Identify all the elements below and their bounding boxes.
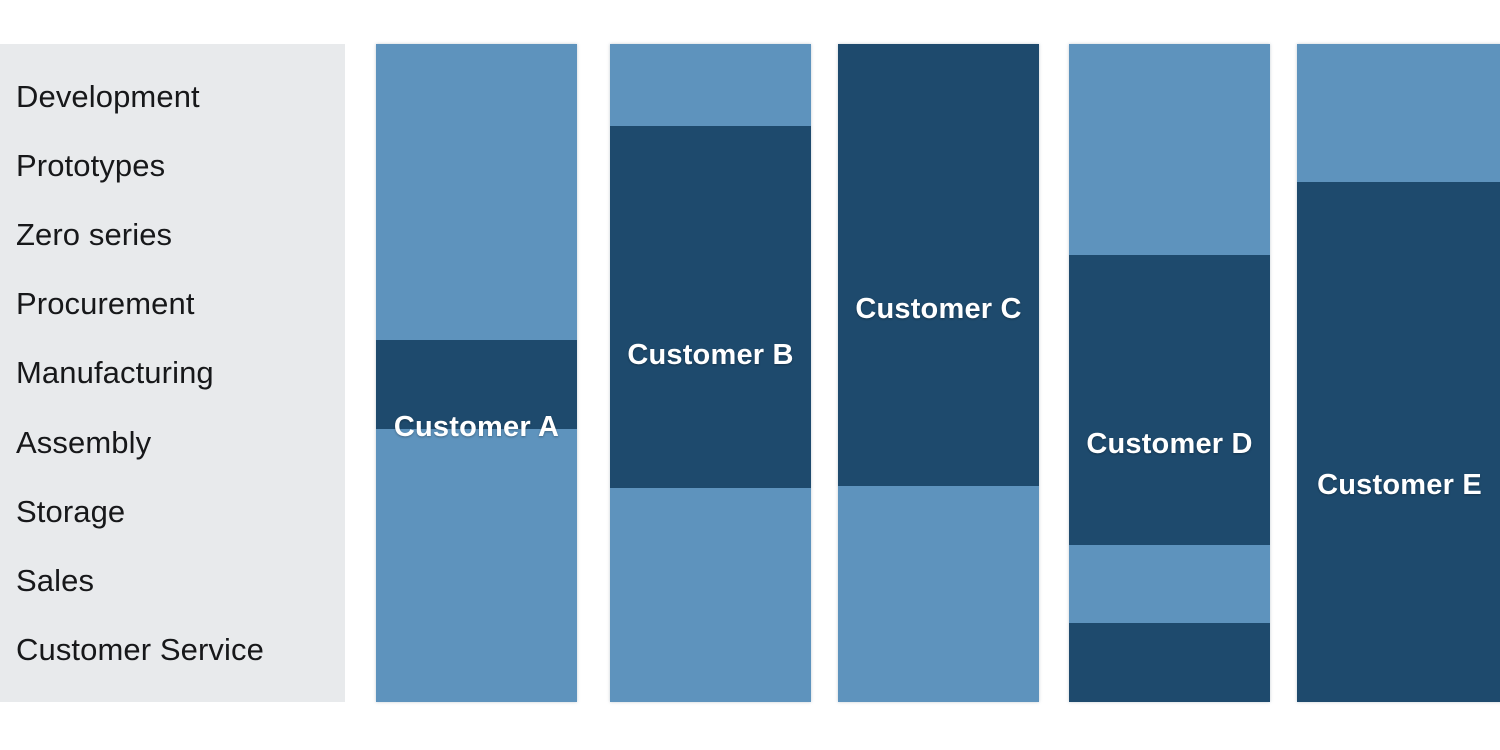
column-segment-base[interactable] (376, 44, 577, 340)
legend-item-label: Procurement (16, 288, 195, 319)
column-customer-b[interactable]: Customer B (610, 44, 811, 702)
column-segment-base[interactable] (610, 44, 811, 126)
column-segment-base[interactable] (1069, 545, 1270, 623)
column-segment-highlight[interactable] (1069, 255, 1270, 545)
legend-item-prototypes[interactable]: Prototypes (0, 131, 345, 200)
legend-item-manufacturing[interactable]: Manufacturing (0, 338, 345, 407)
legend-item-label: Development (16, 81, 200, 112)
legend-item-label: Customer Service (16, 634, 264, 665)
legend-item-procurement[interactable]: Procurement (0, 269, 345, 338)
process-step-legend: Development Prototypes Zero series Procu… (0, 44, 345, 702)
legend-item-customer-service[interactable]: Customer Service (0, 615, 345, 684)
legend-item-assembly[interactable]: Assembly (0, 408, 345, 477)
column-segment-base[interactable] (610, 488, 811, 702)
column-segment-base[interactable] (1069, 44, 1270, 255)
column-segment-highlight[interactable] (1069, 623, 1270, 702)
column-customer-e[interactable]: Customer E (1297, 44, 1500, 702)
column-customer-d[interactable]: Customer D (1069, 44, 1270, 702)
column-segment-highlight[interactable] (1297, 182, 1500, 702)
legend-item-storage[interactable]: Storage (0, 477, 345, 546)
column-customer-a[interactable]: Customer A (376, 44, 577, 702)
chart-canvas: Development Prototypes Zero series Procu… (0, 0, 1500, 750)
column-segment-base[interactable] (376, 429, 577, 702)
legend-item-label: Manufacturing (16, 357, 214, 388)
column-segment-highlight[interactable] (838, 44, 1039, 486)
column-segment-base[interactable] (838, 486, 1039, 702)
legend-item-label: Sales (16, 565, 94, 596)
column-customer-c[interactable]: Customer C (838, 44, 1039, 702)
column-segment-highlight[interactable] (376, 340, 577, 429)
column-segment-highlight[interactable] (610, 126, 811, 488)
column-segment-base[interactable] (1297, 44, 1500, 182)
legend-item-sales[interactable]: Sales (0, 546, 345, 615)
legend-item-label: Assembly (16, 427, 151, 458)
legend-item-label: Storage (16, 496, 125, 527)
legend-item-label: Prototypes (16, 150, 165, 181)
legend-item-label: Zero series (16, 219, 172, 250)
legend-item-zero-series[interactable]: Zero series (0, 200, 345, 269)
legend-item-development[interactable]: Development (0, 62, 345, 131)
